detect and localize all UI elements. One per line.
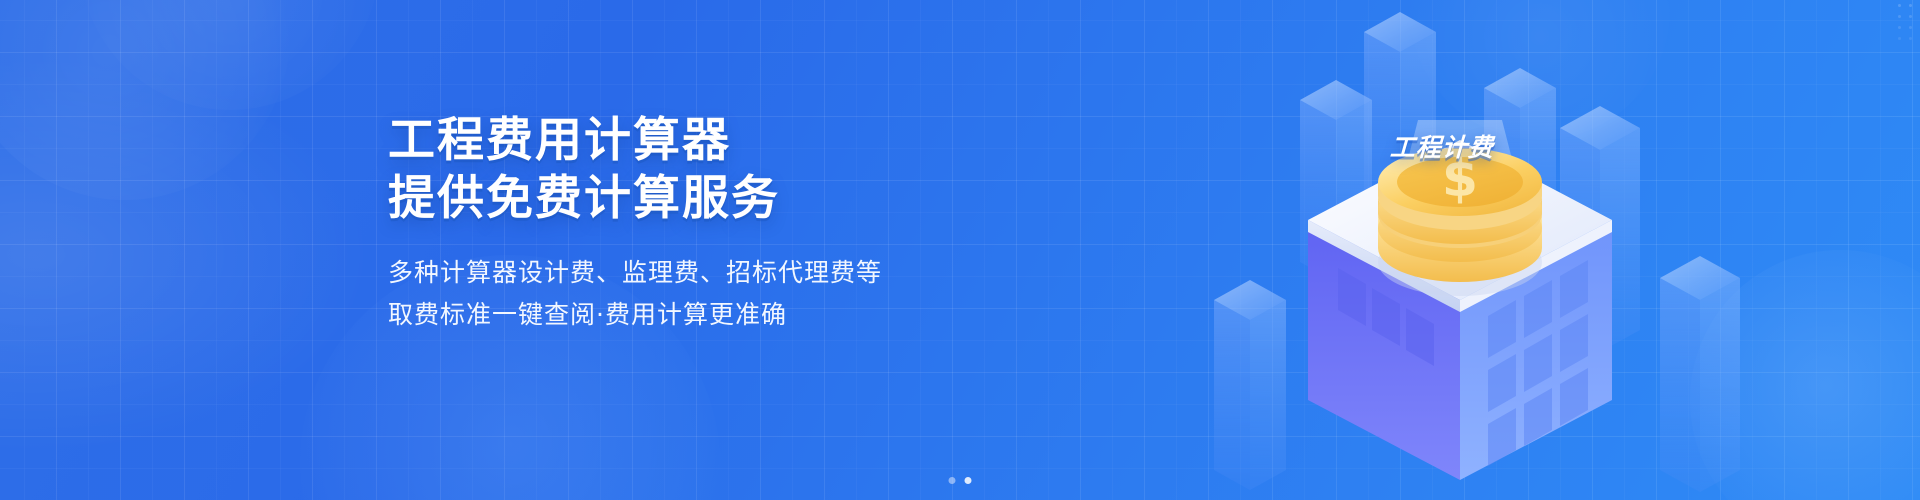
carousel-dot-1[interactable]	[949, 477, 956, 484]
hero-copy: 工程费用计算器 提供免费计算服务 多种计算器设计费、监理费、招标代理费等 取费标…	[388, 112, 882, 336]
coin-stack: $	[1378, 148, 1542, 296]
hero-illustration: $ 工程计费	[1100, 0, 1920, 500]
hero-banner: $ 工程计费 工程费用计算器 提供免费计算服务 多种计算器设计费、监理费、招标代…	[0, 0, 1920, 500]
carousel-dots[interactable]	[949, 477, 972, 484]
subtitle-line-2: 取费标准一键查阅·费用计算更准确	[388, 294, 882, 336]
headline-line-2: 提供免费计算服务	[388, 170, 882, 228]
hero-subtitle: 多种计算器设计费、监理费、招标代理费等 取费标准一键查阅·费用计算更准确	[388, 252, 882, 336]
subtitle-line-1: 多种计算器设计费、监理费、招标代理费等	[388, 252, 882, 294]
headline-line-1: 工程费用计算器	[388, 113, 731, 168]
page-title: 工程费用计算器 提供免费计算服务	[388, 112, 882, 228]
carousel-dot-2[interactable]	[965, 477, 972, 484]
badge-engineering-fee: 工程计费	[1389, 128, 1494, 164]
illustration-svg: $	[1100, 0, 1920, 500]
